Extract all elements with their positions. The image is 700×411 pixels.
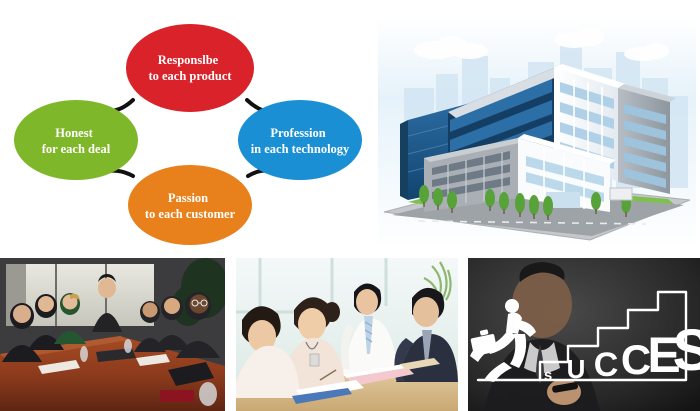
photo-row: s U C C E S <box>0 258 700 411</box>
office-building-illustration <box>378 16 696 250</box>
core-values-circular-diagram: Responslbe to each product Profession in… <box>0 0 375 250</box>
value-node-honest-shape <box>14 100 138 180</box>
team-discussion-photo <box>236 258 458 411</box>
success-letter-s2: S <box>673 318 700 383</box>
value-node-passion-shape <box>128 165 252 245</box>
value-node-profession-shape <box>238 100 362 180</box>
success-letter-s: s <box>544 367 552 384</box>
value-node-passion[interactable]: Passion to each customer <box>128 165 252 245</box>
grey-tower-right <box>618 84 676 194</box>
page-root: Responslbe to each product Profession in… <box>0 0 700 411</box>
value-node-profession[interactable]: Profession in each technology <box>238 100 362 180</box>
value-node-responsible-shape <box>126 24 254 112</box>
success-staircase-photo: s U C C E S <box>468 258 700 411</box>
value-node-responsible[interactable]: Responslbe to each product <box>126 24 254 112</box>
success-letter-c1: C <box>594 346 619 384</box>
value-node-honest[interactable]: Honest for each deal <box>14 100 138 180</box>
success-letter-u: U <box>567 354 586 384</box>
boardroom-meeting-photo <box>0 258 225 411</box>
